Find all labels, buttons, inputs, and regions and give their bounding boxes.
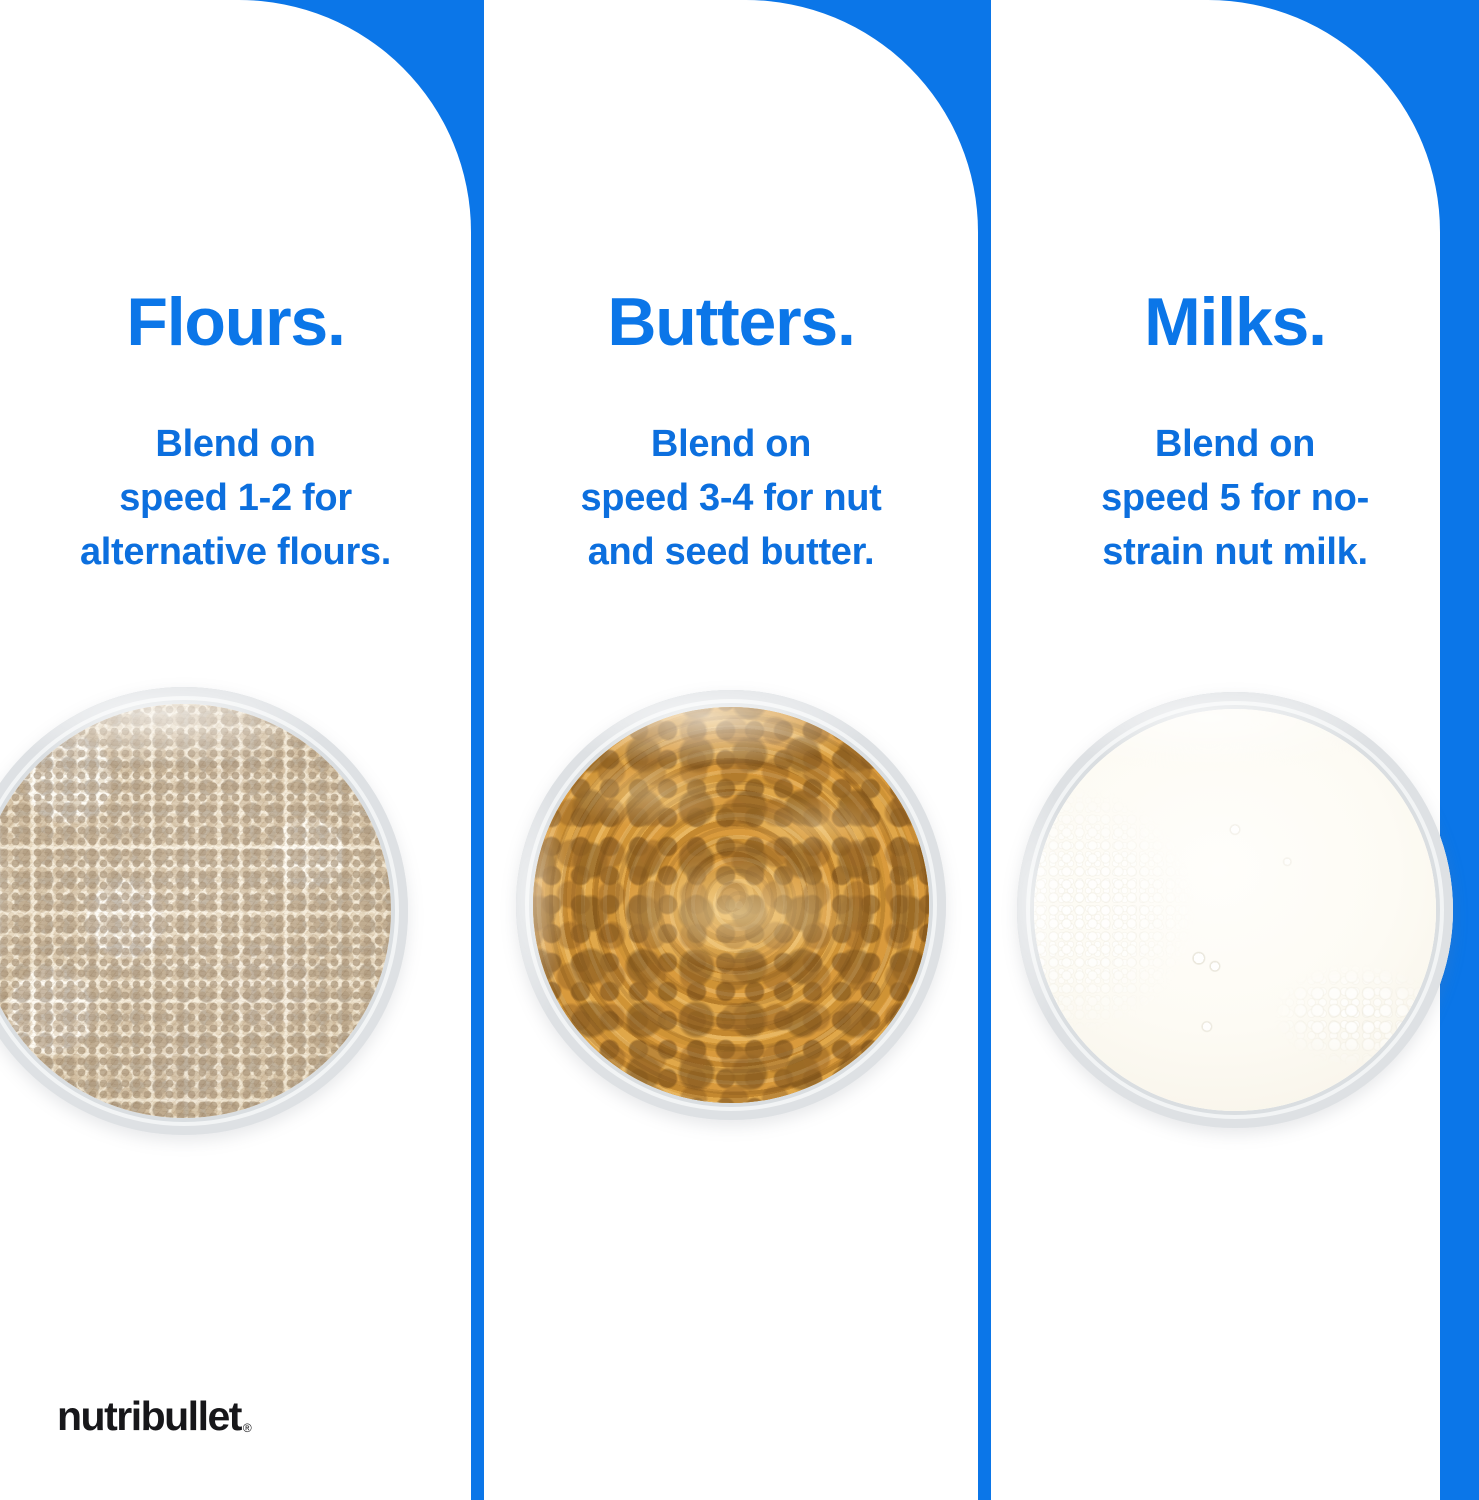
subcopy-line: Blend on [991, 418, 1479, 472]
subcopy-milks: Blend on speed 5 for no- strain nut milk… [991, 418, 1479, 580]
bowl-wrap-flours [0, 690, 471, 1130]
subcopy-line: Blend on [0, 418, 471, 472]
bowl-image-nut-butter [516, 690, 946, 1120]
bowl-contents-flour [0, 704, 391, 1118]
marketing-banner: Flours. Blend on speed 1-2 for alternati… [0, 0, 1479, 1500]
logo-wordmark: nutribullet [57, 1396, 241, 1437]
subcopy-line: speed 3-4 for nut [484, 472, 978, 526]
subcopy-flours: Blend on speed 1-2 for alternative flour… [0, 418, 471, 580]
subcopy-line: strain nut milk. [991, 526, 1479, 580]
headline-butters: Butters. [484, 288, 978, 356]
column-butters: Butters. Blend on speed 3-4 for nut and … [484, 0, 978, 1500]
subcopy-line: speed 5 for no- [991, 472, 1479, 526]
flour-grain [0, 704, 391, 1118]
bowl-wrap-milks [991, 690, 1479, 1130]
column-milks: Milks. Blend on speed 5 for no- strain n… [991, 0, 1479, 1500]
nutribullet-logo: nutribullet ® [57, 1396, 252, 1437]
column-flours: Flours. Blend on speed 1-2 for alternati… [0, 0, 471, 1500]
milk-bubbles [1034, 709, 1436, 1111]
headline-milks: Milks. [991, 288, 1479, 356]
headline-flours: Flours. [0, 288, 471, 356]
bowl-contents-nut-milk [1034, 709, 1436, 1111]
bowl-image-flour [0, 687, 408, 1135]
subcopy-line: alternative flours. [0, 526, 471, 580]
subcopy-line: Blend on [484, 418, 978, 472]
registered-trademark-icon: ® [243, 1422, 252, 1434]
bowl-wrap-butters [484, 690, 978, 1130]
subcopy-line: and seed butter. [484, 526, 978, 580]
bowl-contents-nut-butter [533, 707, 929, 1103]
nut-butter-gloss [533, 707, 929, 1103]
subcopy-line: speed 1-2 for [0, 472, 471, 526]
subcopy-butters: Blend on speed 3-4 for nut and seed butt… [484, 418, 978, 580]
bowl-image-nut-milk [1017, 692, 1453, 1128]
